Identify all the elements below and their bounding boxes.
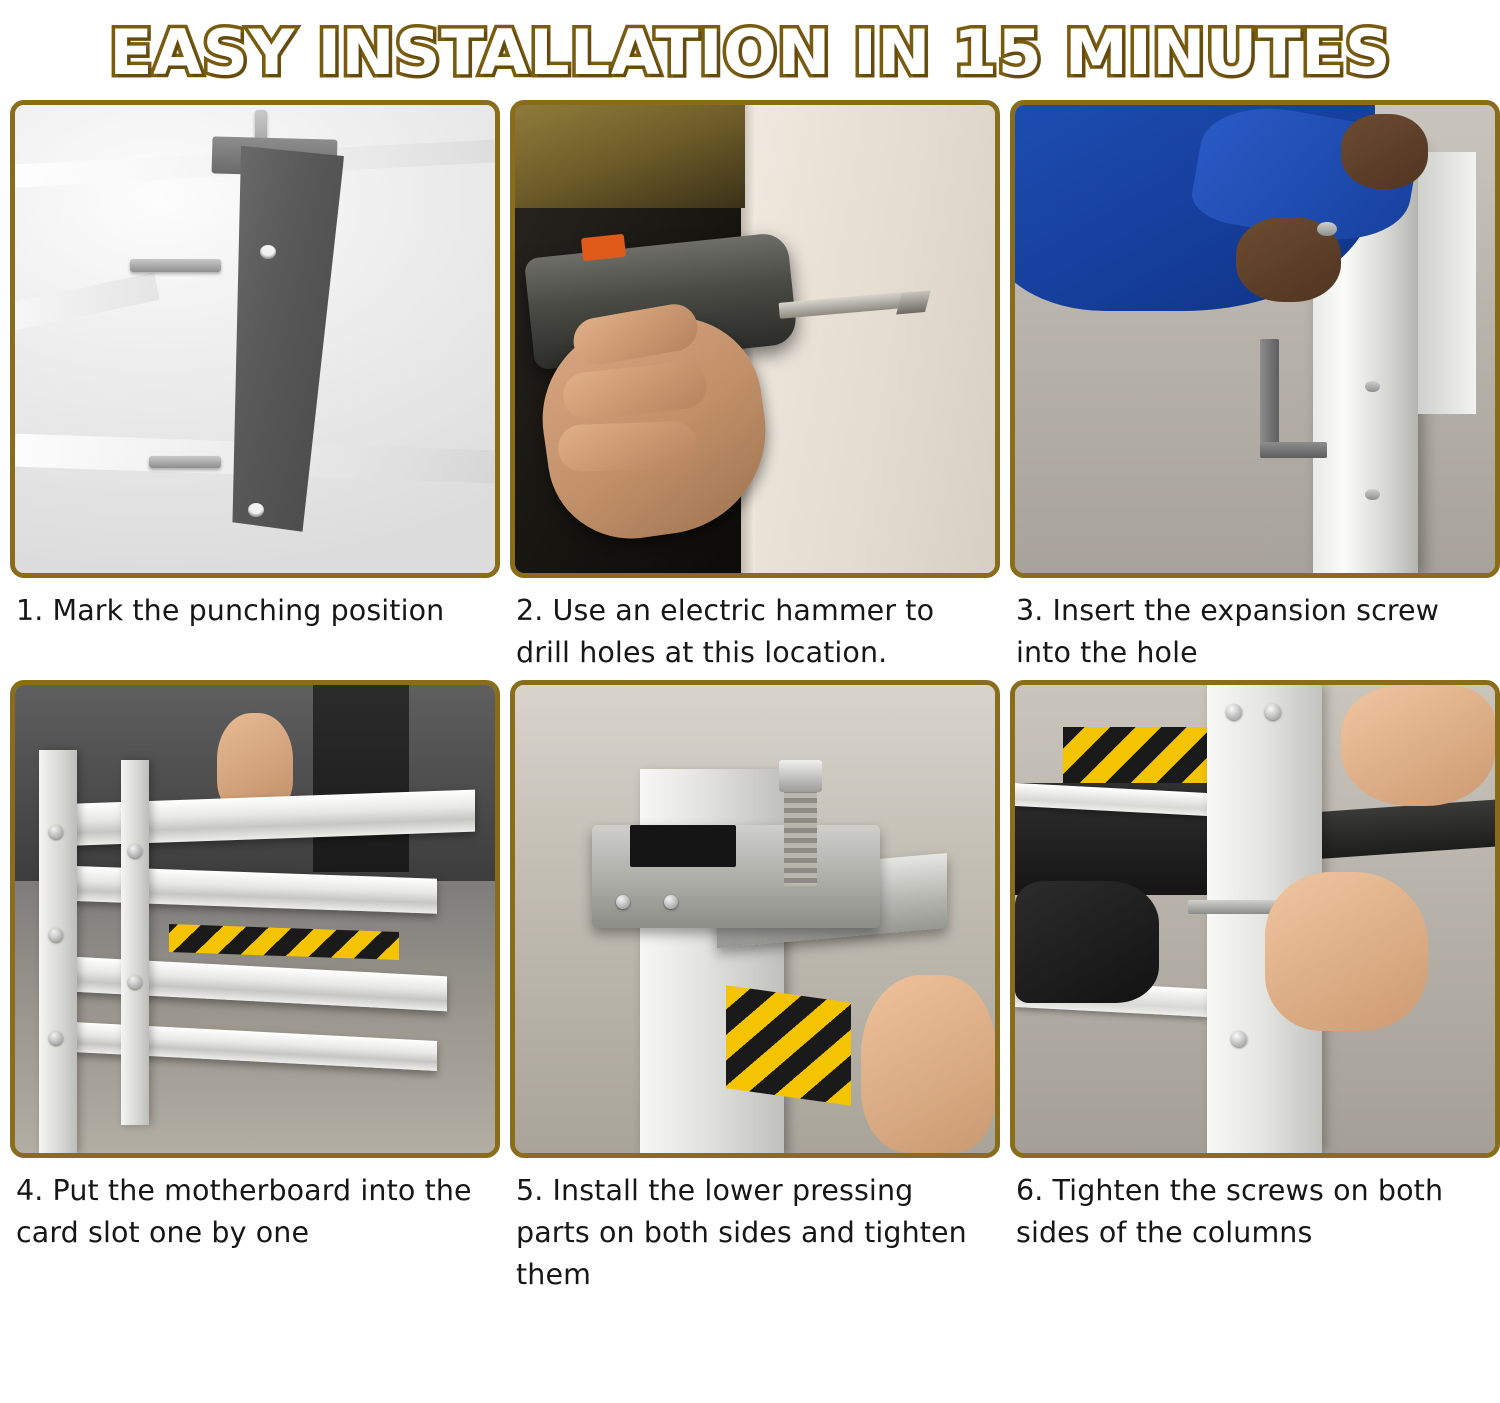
steps-grid: 1. Mark the punching position 2. Use an … <box>0 100 1500 1295</box>
post-bolt <box>49 825 63 839</box>
step-card-6: 6. Tighten the screws on both sides of t… <box>1010 680 1500 1296</box>
header: EASY INSTALLATION IN 15 MINUTES <box>0 0 1500 100</box>
step-5-caption: 5. Install the lower pressing parts on b… <box>510 1158 1000 1296</box>
step-5-photo <box>510 680 1000 1158</box>
step-card-4: 4. Put the motherboard into the card slo… <box>10 680 500 1296</box>
step-6-caption: 6. Tighten the screws on both sides of t… <box>1010 1158 1500 1254</box>
column-screw <box>1231 1031 1247 1047</box>
side-pin-lower <box>149 456 221 468</box>
step-6-photo <box>1010 680 1500 1158</box>
step-card-3: 3. Insert the expansion screw into the h… <box>1010 100 1500 674</box>
column-screw <box>1226 704 1242 720</box>
hazard-stripe-band <box>1063 727 1207 783</box>
installer-hand-top <box>1341 685 1495 807</box>
bolt-head <box>779 760 822 793</box>
step-card-1: 1. Mark the punching position <box>10 100 500 674</box>
post-bolt <box>49 928 63 942</box>
column-bolt <box>1365 489 1379 500</box>
threaded-bolt-shaft <box>784 783 818 886</box>
side-pin-upper <box>130 259 221 271</box>
step-3-caption: 3. Insert the expansion screw into the h… <box>1010 578 1500 674</box>
installation-guide-page: EASY INSTALLATION IN 15 MINUTES 1. Mark … <box>0 0 1500 1403</box>
step-2-photo <box>510 100 1000 578</box>
post-bolt <box>49 1031 63 1045</box>
step-1-photo <box>10 100 500 578</box>
allen-wrench-arm <box>1260 442 1327 458</box>
upper-brass-blur <box>515 105 745 208</box>
step-card-2: 2. Use an electric hammer to drill holes… <box>510 100 1000 674</box>
column-screw <box>1265 704 1281 720</box>
bracket-slot <box>630 825 736 867</box>
installer-hand-right <box>1265 872 1428 1031</box>
post-bolt <box>128 975 142 989</box>
mounting-hole-lower <box>248 503 264 517</box>
worker-hand-upper <box>1341 114 1427 189</box>
left-column-post <box>39 750 77 1152</box>
expansion-screw <box>1317 222 1336 236</box>
step-4-caption: 4. Put the motherboard into the card slo… <box>10 1158 500 1254</box>
step-4-photo <box>10 680 500 1158</box>
hazard-stripe-band <box>726 985 851 1105</box>
post-bolt <box>128 844 142 858</box>
step-1-caption: 1. Mark the punching position <box>10 578 500 632</box>
inner-column-post <box>121 760 150 1125</box>
installer-hand <box>861 975 995 1153</box>
step-2-caption: 2. Use an electric hammer to drill holes… <box>510 578 1000 674</box>
secondary-column <box>1418 152 1476 414</box>
black-sleeve-arm <box>1015 881 1159 1003</box>
finger <box>557 421 698 473</box>
page-title: EASY INSTALLATION IN 15 MINUTES <box>109 16 1391 89</box>
person-legs <box>313 685 409 872</box>
step-3-photo <box>1010 100 1500 578</box>
allen-wrench-shaft <box>1260 339 1279 451</box>
step-card-5: 5. Install the lower pressing parts on b… <box>510 680 1000 1296</box>
